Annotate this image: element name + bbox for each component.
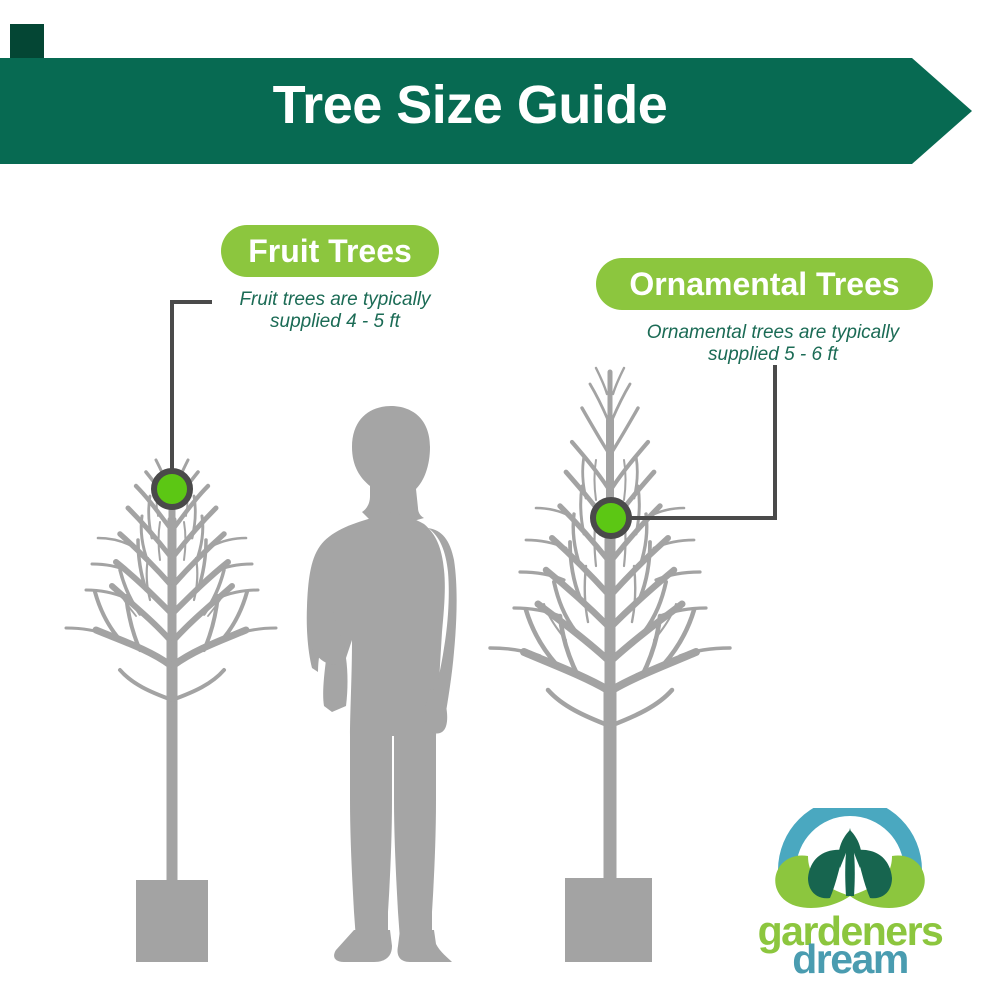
ornamental-tree-marker-dot[interactable] <box>593 500 629 536</box>
ornamental-tree-pot <box>565 878 652 962</box>
ornamental-tree-leader-line <box>628 365 775 518</box>
ornamental-tree-size-marker[interactable] <box>593 500 629 536</box>
fruit-tree-leader-line <box>172 302 212 470</box>
fruit-tree-size-marker[interactable] <box>154 471 190 507</box>
ornamental-tree-figure <box>490 368 730 880</box>
fruit-tree-marker-dot[interactable] <box>154 471 190 507</box>
logo-mark-icon <box>752 808 948 908</box>
person-silhouette <box>307 406 457 962</box>
infographic-canvas: Tree Size Guide Fruit Trees Fruit trees … <box>0 0 1000 1000</box>
logo-outer-leaf-right-icon <box>856 850 892 899</box>
fruit-tree-pot <box>136 880 208 962</box>
logo-outer-leaf-left-icon <box>808 850 844 899</box>
fruit-tree-figure <box>66 460 276 880</box>
logo-text-dream: dream <box>752 938 948 980</box>
brand-logo[interactable]: gardeners dream <box>752 808 948 980</box>
